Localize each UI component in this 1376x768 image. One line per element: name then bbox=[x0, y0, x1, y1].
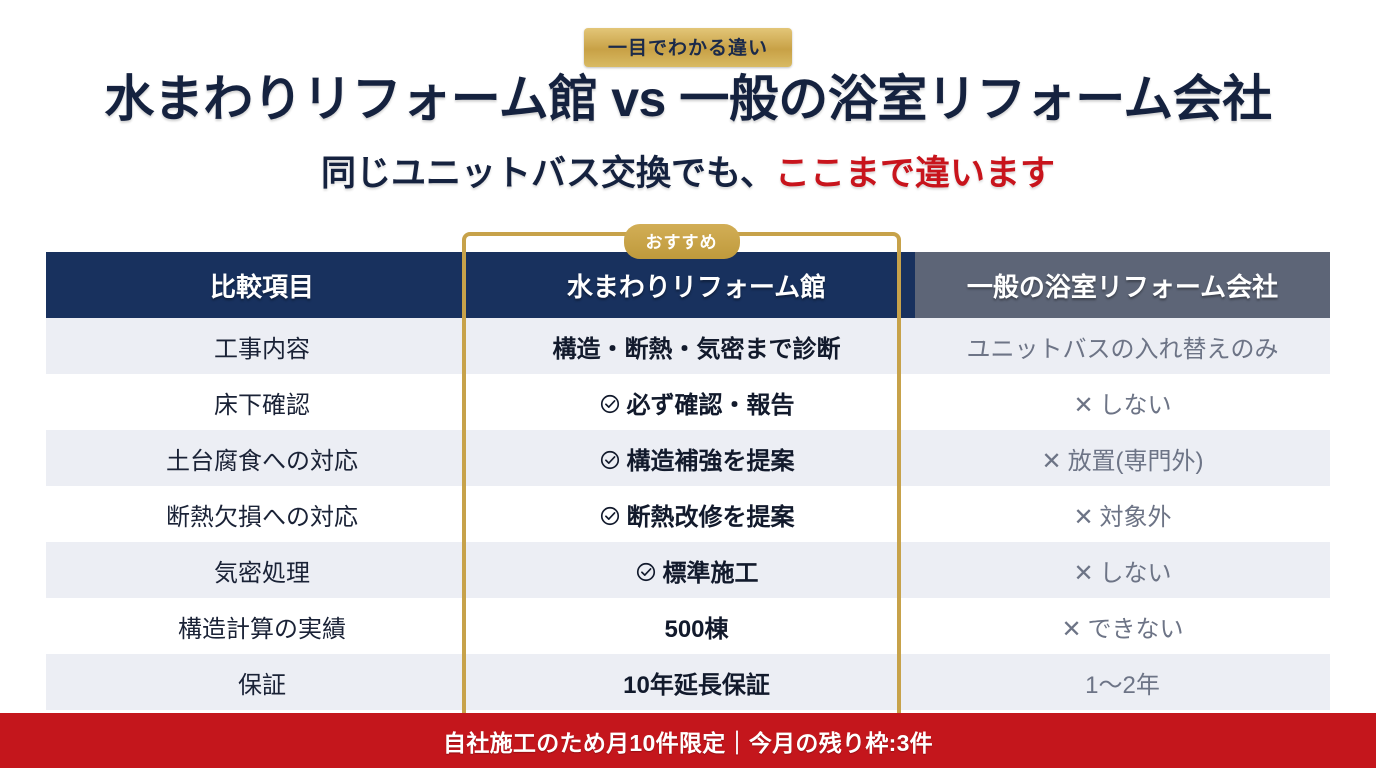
cell-ours: 構造補強を提案 bbox=[478, 430, 915, 486]
comparison-table: 比較項目 水まわりリフォーム館 一般の浴室リフォーム会社 工事内容構造・断熱・気… bbox=[46, 252, 1330, 710]
recommend-badge: おすすめ bbox=[624, 224, 740, 259]
cell-theirs-label: 対象外 bbox=[1100, 504, 1172, 531]
subtitle-accent: ここまで違います bbox=[775, 154, 1055, 193]
cell-ours: 標準施工 bbox=[478, 542, 915, 598]
cell-ours-label: 10年延長保証 bbox=[623, 672, 770, 699]
cell-theirs-label: ユニットバスの入れ替えのみ bbox=[967, 336, 1279, 363]
check-circle-icon bbox=[599, 504, 627, 531]
check-circle-icon bbox=[599, 392, 627, 419]
cell-theirs: ✕できない bbox=[915, 598, 1330, 654]
table-row: 断熱欠損への対応断熱改修を提案✕対象外 bbox=[46, 486, 1330, 542]
table-row: 土台腐食への対応構造補強を提案✕放置(専門外) bbox=[46, 430, 1330, 486]
check-circle-icon bbox=[635, 560, 663, 587]
table-row: 気密処理標準施工✕しない bbox=[46, 542, 1330, 598]
cell-ours-label: 標準施工 bbox=[663, 560, 759, 587]
cell-ours: 断熱改修を提案 bbox=[478, 486, 915, 542]
cross-icon: ✕ bbox=[1073, 559, 1093, 588]
cell-ours-label: 構造補強を提案 bbox=[627, 448, 795, 475]
cross-icon: ✕ bbox=[1061, 615, 1081, 644]
eyebrow-badge: 一目でわかる違い bbox=[584, 28, 792, 67]
cell-ours-label: 断熱改修を提案 bbox=[627, 504, 795, 531]
table-row: 保証10年延長保証1〜2年 bbox=[46, 654, 1330, 710]
cell-ours-label: 必ず確認・報告 bbox=[627, 392, 795, 419]
cross-icon: ✕ bbox=[1073, 503, 1093, 532]
subtitle-plain: 同じユニットバス交換でも、 bbox=[321, 154, 775, 193]
cell-theirs-label: 1〜2年 bbox=[1085, 672, 1160, 699]
cell-item: 床下確認 bbox=[46, 374, 478, 430]
table-row: 工事内容構造・断熱・気密まで診断ユニットバスの入れ替えのみ bbox=[46, 318, 1330, 374]
cell-theirs-label: 放置(専門外) bbox=[1068, 448, 1204, 475]
banner-text: 自社施工のため月10件限定｜今月の残り枠:3件 bbox=[443, 724, 933, 758]
cell-item: 気密処理 bbox=[46, 542, 478, 598]
cross-icon: ✕ bbox=[1073, 391, 1093, 420]
table-head: 比較項目 水まわりリフォーム館 一般の浴室リフォーム会社 bbox=[46, 252, 1330, 318]
cell-ours: 10年延長保証 bbox=[478, 654, 915, 710]
comparison-infographic: 一目でわかる違い 水まわりリフォーム館 vs 一般の浴室リフォーム会社 同じユニ… bbox=[0, 0, 1376, 768]
cell-theirs: 1〜2年 bbox=[915, 654, 1330, 710]
table-row: 構造計算の実績500棟✕できない bbox=[46, 598, 1330, 654]
recommend-badge-wrap: おすすめ bbox=[463, 224, 900, 259]
column-header-item: 比較項目 bbox=[46, 252, 478, 318]
cell-theirs-label: しない bbox=[1100, 392, 1172, 419]
cell-ours-label: 構造・断熱・気密まで診断 bbox=[553, 336, 841, 363]
cell-item: 土台腐食への対応 bbox=[46, 430, 478, 486]
cell-theirs-label: できない bbox=[1088, 616, 1184, 643]
cell-item: 工事内容 bbox=[46, 318, 478, 374]
table-body: 工事内容構造・断熱・気密まで診断ユニットバスの入れ替えのみ床下確認必ず確認・報告… bbox=[46, 318, 1330, 710]
column-header-ours: 水まわりリフォーム館 bbox=[478, 252, 915, 318]
page-title: 水まわりリフォーム館 vs 一般の浴室リフォーム会社 bbox=[0, 72, 1376, 127]
cell-ours: 必ず確認・報告 bbox=[478, 374, 915, 430]
cell-item: 断熱欠損への対応 bbox=[46, 486, 478, 542]
cell-theirs: ✕しない bbox=[915, 542, 1330, 598]
cell-theirs: ✕放置(専門外) bbox=[915, 430, 1330, 486]
table-header-row: 比較項目 水まわりリフォーム館 一般の浴室リフォーム会社 bbox=[46, 252, 1330, 318]
eyebrow-badge-wrap: 一目でわかる違い bbox=[0, 28, 1376, 67]
cell-ours: 構造・断熱・気密まで診断 bbox=[478, 318, 915, 374]
column-header-theirs: 一般の浴室リフォーム会社 bbox=[915, 252, 1330, 318]
table-row: 床下確認必ず確認・報告✕しない bbox=[46, 374, 1330, 430]
cell-theirs: ✕対象外 bbox=[915, 486, 1330, 542]
cell-ours: 500棟 bbox=[478, 598, 915, 654]
bottom-banner: 自社施工のため月10件限定｜今月の残り枠:3件 bbox=[0, 713, 1376, 768]
cell-item: 構造計算の実績 bbox=[46, 598, 478, 654]
cell-theirs: ユニットバスの入れ替えのみ bbox=[915, 318, 1330, 374]
cell-theirs: ✕しない bbox=[915, 374, 1330, 430]
cross-icon: ✕ bbox=[1041, 447, 1061, 476]
cell-ours-label: 500棟 bbox=[664, 616, 728, 643]
check-circle-icon bbox=[599, 448, 627, 475]
cell-item: 保証 bbox=[46, 654, 478, 710]
page-subtitle: 同じユニットバス交換でも、ここまで違います bbox=[0, 145, 1376, 196]
cell-theirs-label: しない bbox=[1100, 560, 1172, 587]
